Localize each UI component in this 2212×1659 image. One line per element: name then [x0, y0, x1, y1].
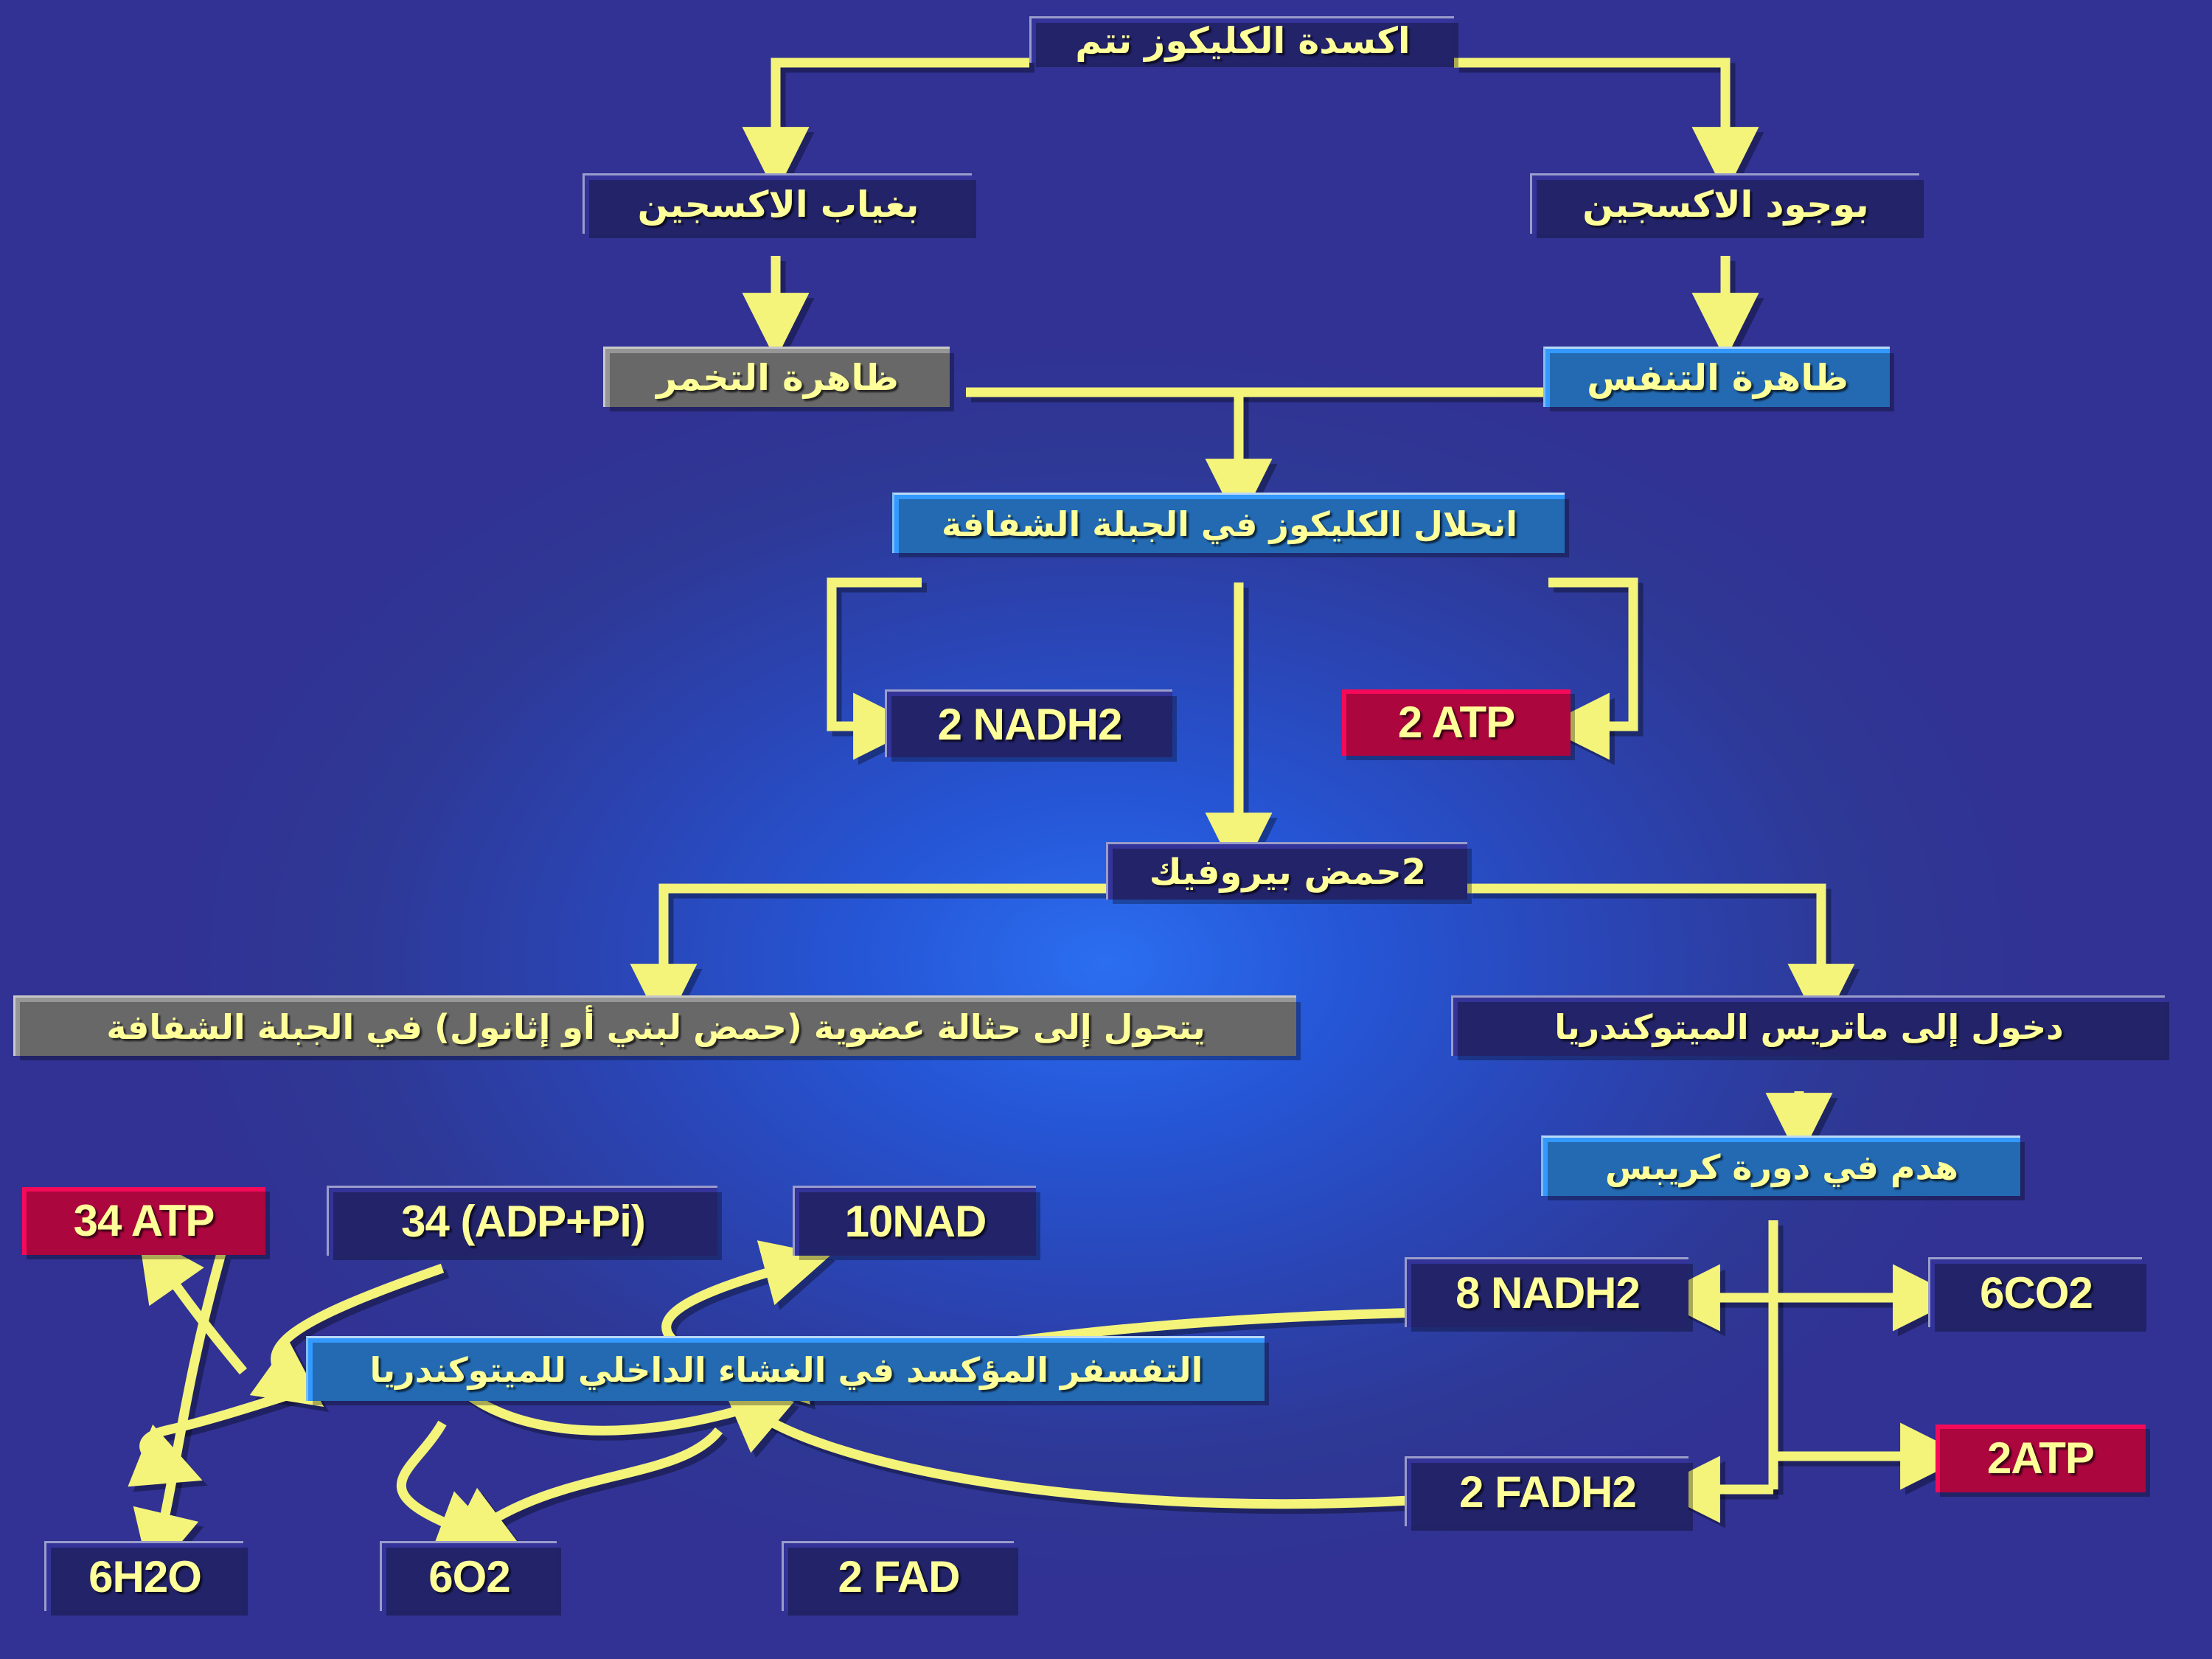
node-glycolysis-label: انحلال الكليكوز في الجبلة الشفافة: [942, 507, 1517, 541]
node-pyruvate[interactable]: 2حمض بيروفيك: [1106, 842, 1467, 900]
node-nadh2-2[interactable]: 2 NADH2: [885, 689, 1172, 757]
node-krebs[interactable]: هدم في دورة كريبس: [1541, 1135, 2020, 1196]
node-fad-2[interactable]: 2 FAD: [782, 1541, 1014, 1611]
node-atp-2-krebs[interactable]: 2ATP: [1935, 1425, 2146, 1492]
node-atp-34-label: 34 ATP: [74, 1199, 215, 1243]
link-oxidation-anaerobic: [776, 63, 1029, 159]
link-pyruvate-matrix: [1467, 888, 1821, 995]
node-atp-2-krebs-label: 2ATP: [1987, 1436, 2094, 1481]
node-atp-2[interactable]: 2 ATP: [1342, 689, 1571, 756]
node-nad-10-label: 10NAD: [845, 1200, 987, 1244]
node-anaerobic[interactable]: بغياب الاكسجين: [582, 173, 972, 234]
node-oxidation[interactable]: اكسدة الكليكوز تتم: [1029, 16, 1454, 63]
node-fermentation-label: ظاهرة التخمر: [656, 360, 899, 396]
link-fadh2-oxphos: [748, 1407, 1408, 1504]
node-h2o-6-label: 6H2O: [88, 1555, 201, 1599]
node-o2-6-label: 6O2: [428, 1555, 509, 1599]
node-organic-waste[interactable]: يتحول إلى حثالة عضوية (حمض لبني أو إثانو…: [13, 995, 1296, 1056]
node-nad-10[interactable]: 10NAD: [793, 1186, 1036, 1256]
node-krebs-label: هدم في دورة كريبس: [1605, 1150, 1958, 1184]
node-aerobic[interactable]: بوجود الاكسجين: [1530, 173, 1919, 234]
node-adp-pi-34-label: 34 (ADP+Pi): [401, 1200, 645, 1244]
node-h2o-6[interactable]: 6H2O: [44, 1541, 243, 1611]
node-fadh2-2[interactable]: 2 FADH2: [1405, 1456, 1688, 1526]
node-fad-2-label: 2 FAD: [838, 1555, 959, 1599]
node-oxphos[interactable]: التفسفر المؤكسد في الغشاء الداخلي للميتو…: [306, 1336, 1265, 1401]
node-respiration[interactable]: ظاهرة التنفس: [1543, 347, 1890, 407]
node-glycolysis[interactable]: انحلال الكليكوز في الجبلة الشفافة: [892, 493, 1565, 553]
node-organic-waste-label: يتحول إلى حثالة عضوية (حمض لبني أو إثانو…: [106, 1010, 1205, 1044]
node-oxidation-label: اكسدة الكليكوز تتم: [1075, 23, 1410, 59]
node-matrix-entry[interactable]: دخول إلى ماتريس الميتوكندريا: [1451, 995, 2165, 1056]
node-pyruvate-label: 2حمض بيروفيك: [1150, 855, 1426, 890]
node-co2-6[interactable]: 6CO2: [1928, 1257, 2142, 1327]
connector-layer: [0, 0, 2212, 1659]
node-matrix-entry-label: دخول إلى ماتريس الميتوكندريا: [1554, 1010, 2063, 1044]
node-anaerobic-label: بغياب الاكسجين: [638, 187, 919, 223]
node-atp-2-label: 2 ATP: [1398, 700, 1514, 745]
node-co2-6-label: 6CO2: [1980, 1271, 2093, 1315]
diagram-canvas: اكسدة الكليكوز تتم بغياب الاكسجين بوجود …: [0, 0, 2212, 1659]
node-atp-34[interactable]: 34 ATP: [22, 1187, 265, 1255]
node-fermentation[interactable]: ظاهرة التخمر: [603, 347, 950, 407]
node-nadh2-8-label: 8 NADH2: [1455, 1271, 1640, 1315]
node-oxphos-label: التفسفر المؤكسد في الغشاء الداخلي للميتو…: [370, 1353, 1203, 1387]
link-oxphos-o2b: [401, 1423, 472, 1534]
node-o2-6[interactable]: 6O2: [380, 1541, 557, 1611]
link-oxidation-aerobic: [1454, 63, 1725, 159]
node-nadh2-2-label: 2 NADH2: [938, 703, 1122, 747]
node-nadh2-8[interactable]: 8 NADH2: [1405, 1257, 1688, 1327]
node-adp-pi-34[interactable]: 34 (ADP+Pi): [327, 1186, 717, 1256]
node-respiration-label: ظاهرة التنفس: [1587, 360, 1848, 396]
node-fadh2-2-label: 2 FADH2: [1459, 1470, 1636, 1514]
link-pyruvate-fermentprod: [664, 888, 1121, 995]
node-aerobic-label: بوجود الاكسجين: [1582, 187, 1868, 223]
